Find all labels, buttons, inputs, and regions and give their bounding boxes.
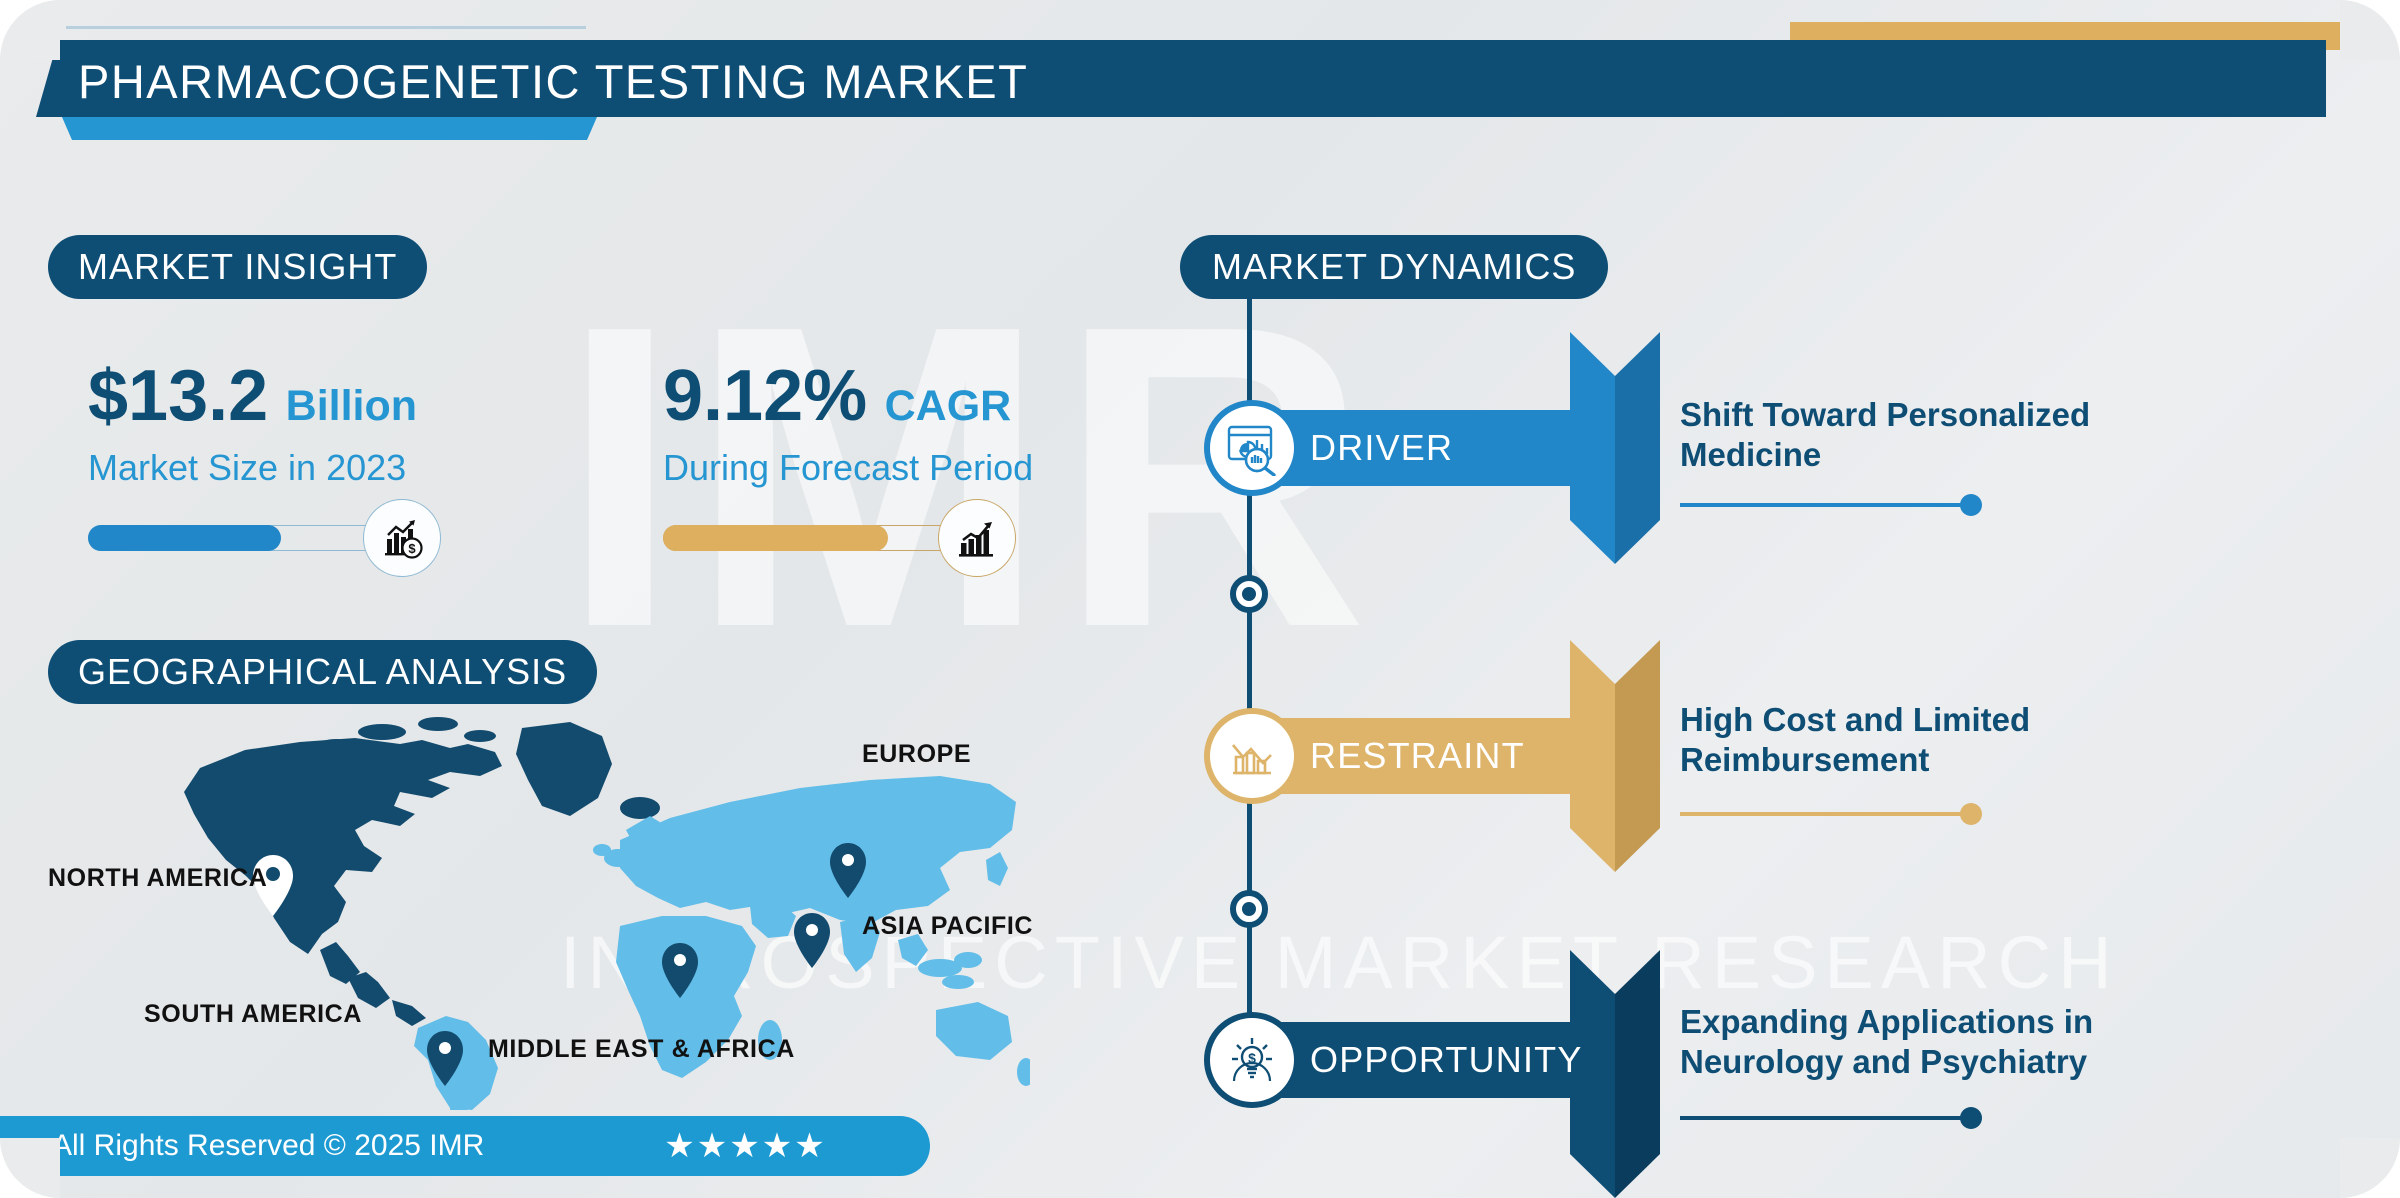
market-dynamics-label: MARKET DYNAMICS bbox=[1212, 246, 1576, 288]
infographic-canvas: IMR INTROSPECTIVE MARKET RESEARCH PHARMA… bbox=[0, 0, 2400, 1198]
map-label-north-america: NORTH AMERICA bbox=[48, 864, 267, 893]
opportunity-underline bbox=[1680, 1116, 1970, 1120]
header-thin-rule bbox=[66, 26, 586, 29]
cagr-unit: CAGR bbox=[885, 382, 1012, 431]
declining-bar-chart-icon bbox=[1204, 708, 1300, 804]
driver-end-dot bbox=[1960, 494, 1982, 516]
dashboard-analytics-search-icon bbox=[1204, 400, 1300, 496]
frame-corner-bottom-left bbox=[0, 1138, 60, 1198]
restraint-underline bbox=[1680, 812, 1970, 816]
market-size-unit: Billion bbox=[286, 382, 417, 431]
cagr-caption: During Forecast Period bbox=[663, 447, 1033, 489]
copyright-text: All Rights Reserved © 2025 IMR bbox=[52, 1129, 484, 1163]
opportunity-end-dot bbox=[1960, 1107, 1982, 1129]
frame-corner-top-right bbox=[2340, 0, 2400, 60]
header-light-accent-bar bbox=[62, 117, 597, 140]
page-title: PHARMACOGENETIC TESTING MARKET bbox=[78, 54, 1028, 109]
opportunity-description: Expanding Applications in Neurology and … bbox=[1680, 1002, 2150, 1083]
map-label-asia-pacific: ASIA PACIFIC bbox=[862, 912, 1033, 941]
map-label-europe: EUROPE bbox=[862, 740, 971, 769]
market-size-caption: Market Size in 2023 bbox=[88, 447, 417, 489]
frame-corner-top-left bbox=[0, 0, 60, 60]
cagr-progress-fill bbox=[663, 525, 888, 551]
frame-corner-bottom-right bbox=[2340, 1138, 2400, 1198]
section-heading-geographical-analysis: GEOGRAPHICAL ANALYSIS bbox=[48, 640, 597, 704]
growth-arrow-chart-icon bbox=[938, 499, 1016, 577]
section-heading-market-insight: MARKET INSIGHT bbox=[48, 235, 427, 299]
bar-chart-dollar-icon: $ bbox=[363, 499, 441, 577]
timeline-node-1 bbox=[1230, 575, 1268, 613]
svg-text:$: $ bbox=[408, 541, 416, 556]
geographical-analysis-label: GEOGRAPHICAL ANALYSIS bbox=[78, 651, 567, 693]
map-label-middle-east-africa: MIDDLE EAST & AFRICA bbox=[488, 1035, 795, 1064]
stat-market-size: $13.2 Billion Market Size in 2023 bbox=[88, 355, 417, 607]
driver-label: DRIVER bbox=[1310, 427, 1453, 469]
restraint-description: High Cost and Limited Reimbursement bbox=[1680, 700, 2150, 781]
opportunity-label: OPPORTUNITY bbox=[1310, 1039, 1583, 1081]
market-size-progress-fill bbox=[88, 525, 281, 551]
driver-description: Shift Toward Personalized Medicine bbox=[1680, 395, 2150, 476]
driver-underline bbox=[1680, 503, 1970, 507]
map-label-south-america: SOUTH AMERICA bbox=[144, 1000, 362, 1029]
timeline-node-2 bbox=[1230, 890, 1268, 928]
market-insight-label: MARKET INSIGHT bbox=[78, 246, 397, 288]
cagr-value: 9.12% bbox=[663, 355, 867, 437]
stat-cagr: 9.12% CAGR During Forecast Period bbox=[663, 355, 1033, 607]
rating-stars: ★★★★★ bbox=[664, 1126, 826, 1166]
lightbulb-dollar-icon: $ bbox=[1204, 1012, 1300, 1108]
restraint-end-dot bbox=[1960, 803, 1982, 825]
footer-bar: All Rights Reserved © 2025 IMR ★★★★★ bbox=[0, 1116, 930, 1176]
section-heading-market-dynamics: MARKET DYNAMICS bbox=[1180, 235, 1608, 299]
market-size-value: $13.2 bbox=[88, 355, 268, 437]
restraint-label: RESTRAINT bbox=[1310, 735, 1525, 777]
